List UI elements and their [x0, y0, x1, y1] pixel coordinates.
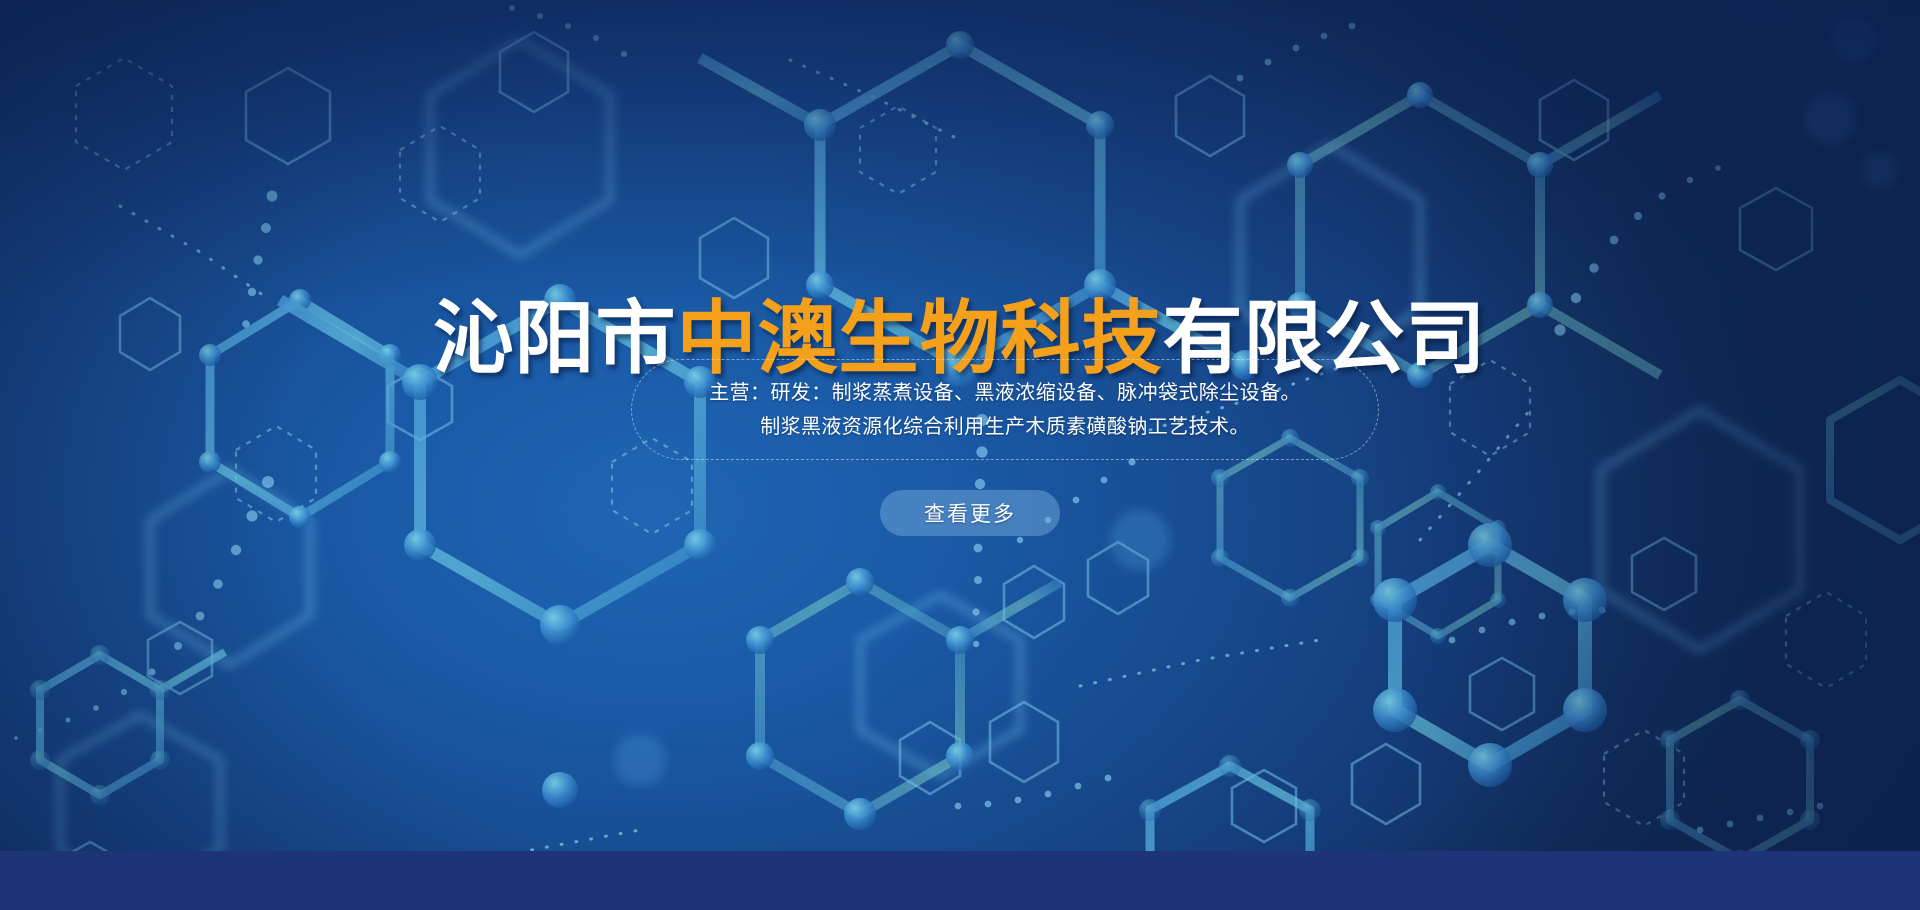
bottom-bar	[0, 851, 1920, 910]
tagline-line-2: 制浆黑液资源化综合利用生产木质素磺酸钠工艺技术。	[760, 410, 1250, 444]
view-more-button[interactable]: 查看更多	[880, 490, 1060, 536]
hero-banner: 沁阳市中澳生物科技有限公司 主营：研发：制浆蒸煮设备、黑液浓缩设备、脉冲袋式除尘…	[0, 0, 1920, 910]
tagline-box: 主营：研发：制浆蒸煮设备、黑液浓缩设备、脉冲袋式除尘设备。 制浆黑液资源化综合利…	[631, 359, 1379, 460]
title-prefix: 沁阳市	[434, 294, 677, 383]
tagline-line-1: 主营：研发：制浆蒸煮设备、黑液浓缩设备、脉冲袋式除尘设备。	[709, 376, 1301, 410]
hero-content: 沁阳市中澳生物科技有限公司 主营：研发：制浆蒸煮设备、黑液浓缩设备、脉冲袋式除尘…	[0, 0, 1920, 851]
